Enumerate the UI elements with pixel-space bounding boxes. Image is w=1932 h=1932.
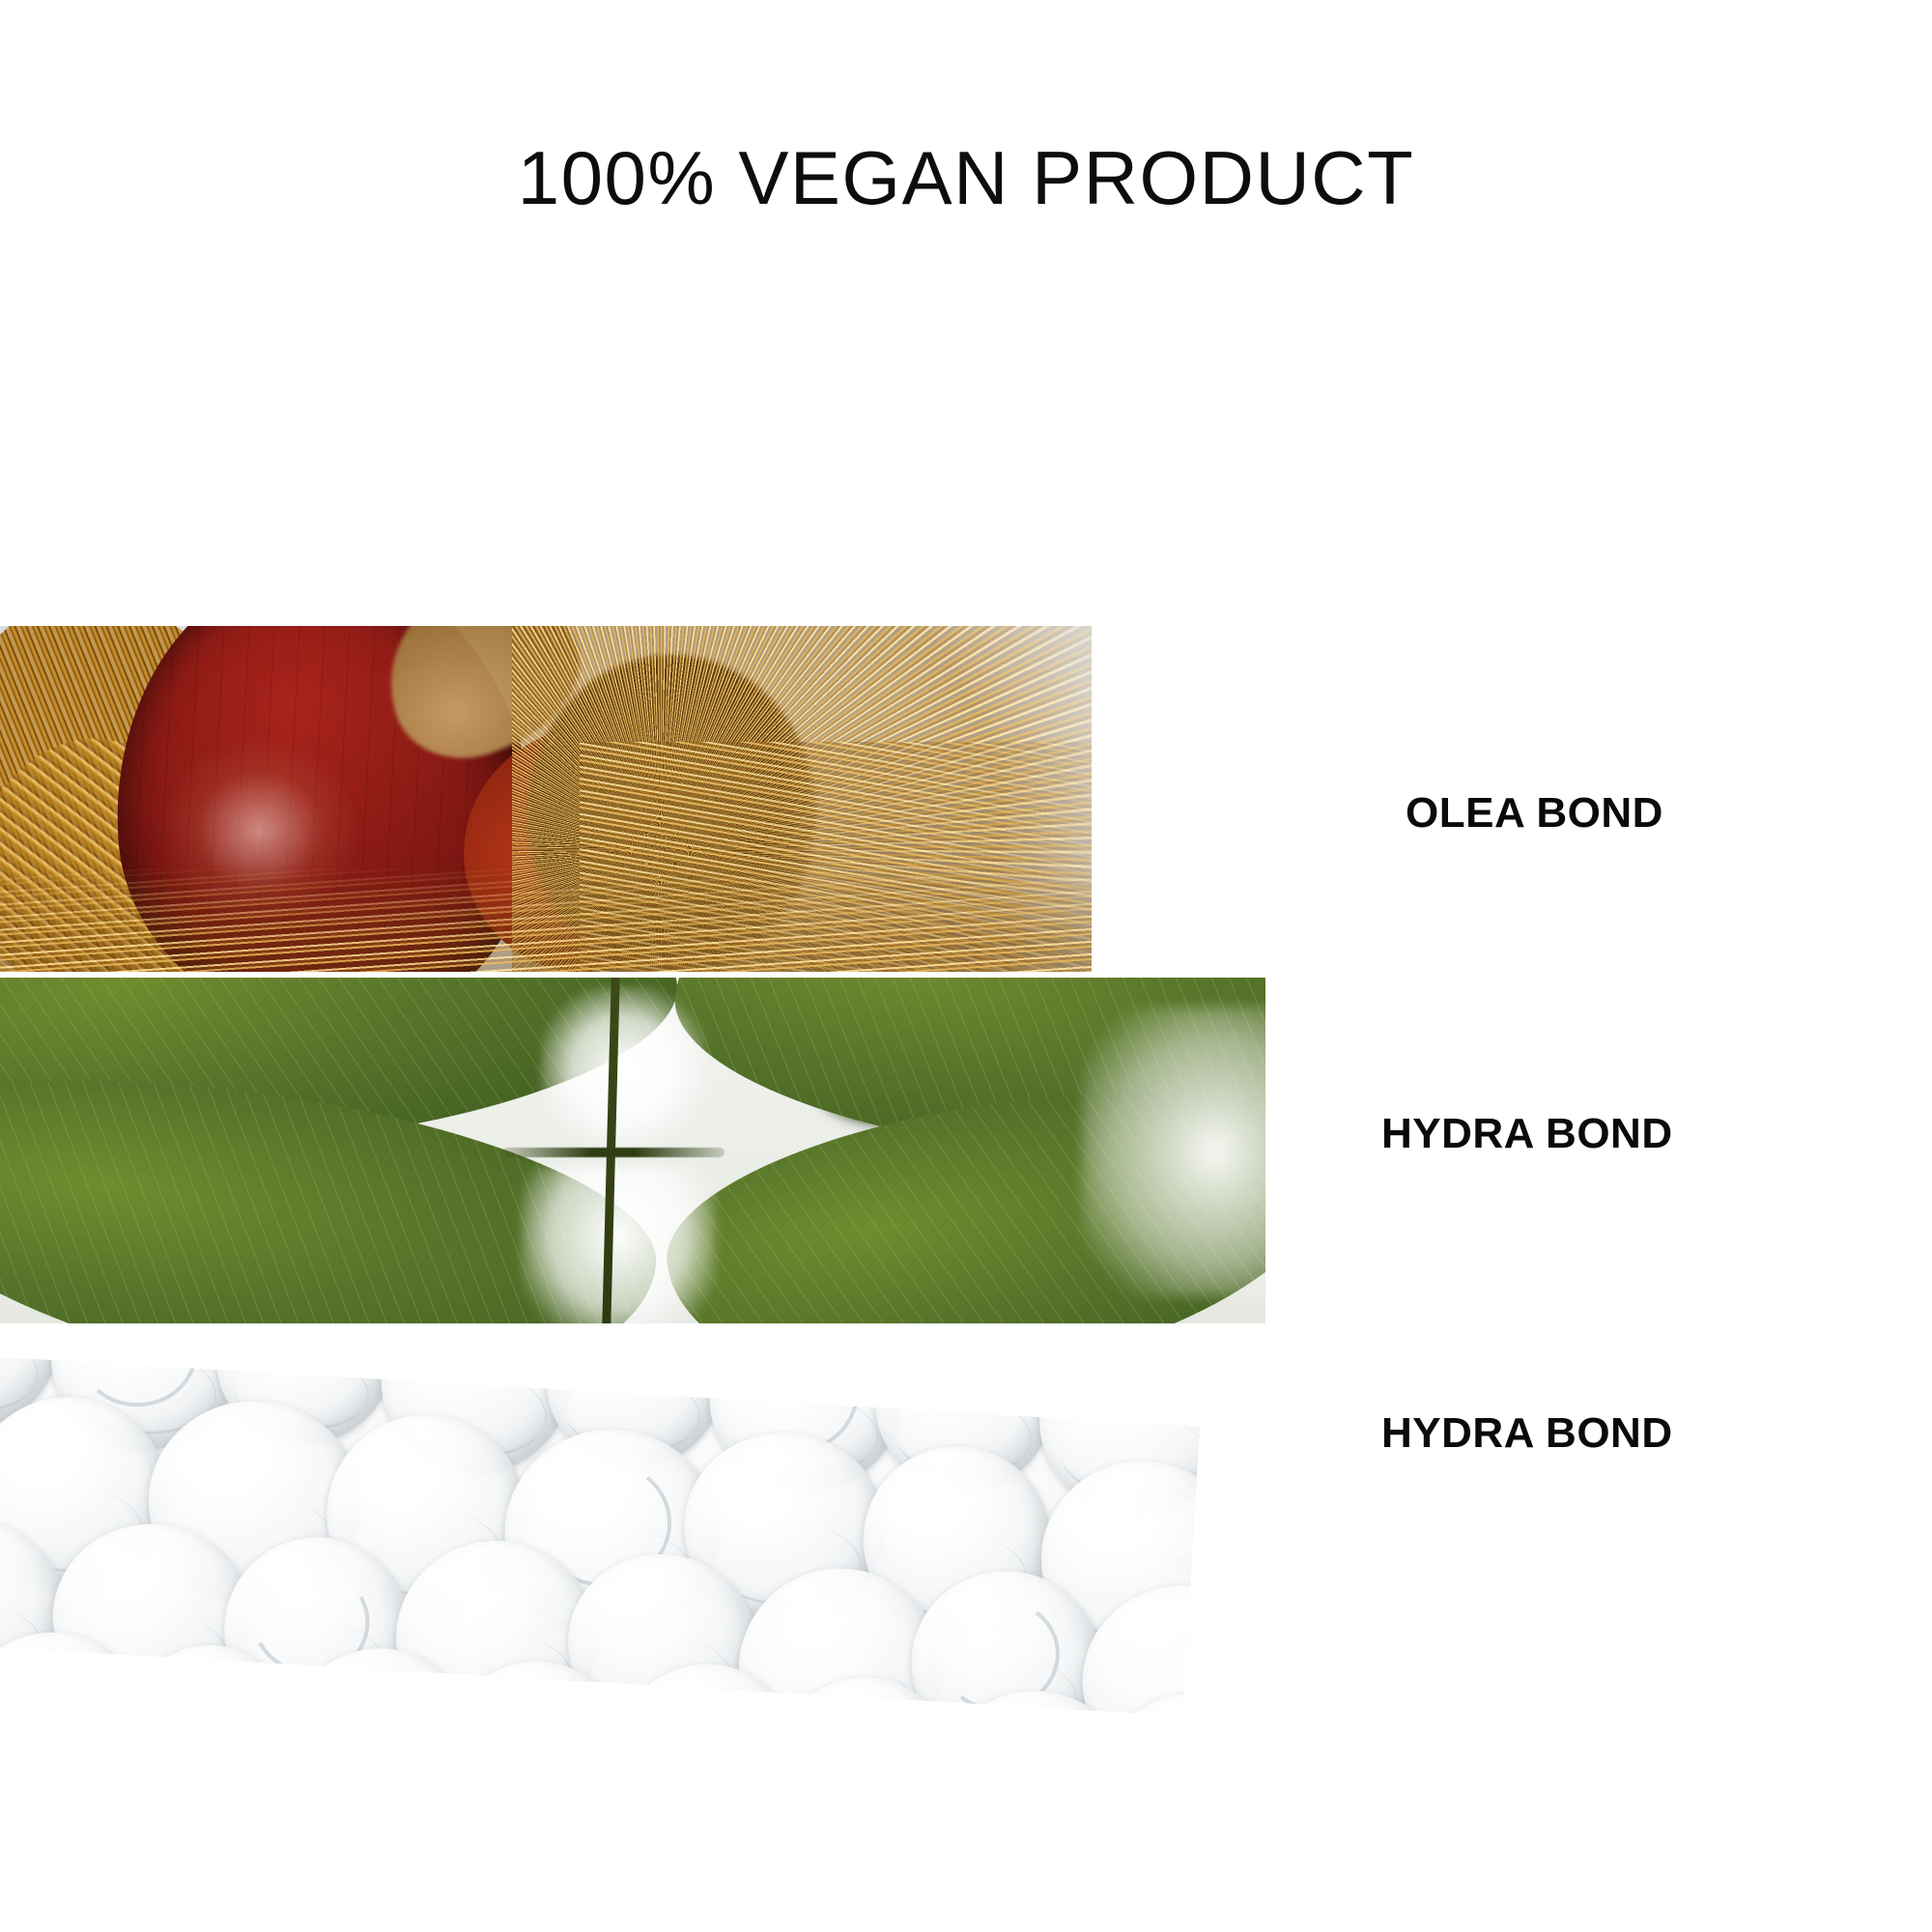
ingredient-image-hydra-bond-gel	[0, 1356, 1200, 1716]
ingredient-label-olea-bond: OLEA BOND	[1406, 792, 1663, 835]
vegan-product-ingredient-panel: 100% VEGAN PRODUCT	[0, 0, 1932, 1932]
background-glow-right	[1082, 1007, 1265, 1296]
background-glow-lower-center	[522, 1166, 715, 1323]
ingredient-label-hydra-bond-gel: HYDRA BOND	[1381, 1412, 1673, 1455]
ingredient-label-hydra-bond-leaves: HYDRA BOND	[1381, 1113, 1673, 1155]
ingredient-image-olea-bond	[0, 626, 1092, 972]
background-glow-upper-center	[541, 987, 705, 1151]
husk-bottom-spikes	[0, 866, 1092, 972]
gel-beads-photo	[0, 1356, 1200, 1716]
gel-bead-field	[0, 1356, 1200, 1716]
leaf-stem-horizontal	[502, 1148, 724, 1157]
chestnut-leaves-photo	[0, 978, 1265, 1323]
chestnut-photo	[0, 626, 1092, 972]
page-title: 100% VEGAN PRODUCT	[0, 140, 1932, 215]
ingredient-image-hydra-bond-leaves	[0, 978, 1265, 1323]
